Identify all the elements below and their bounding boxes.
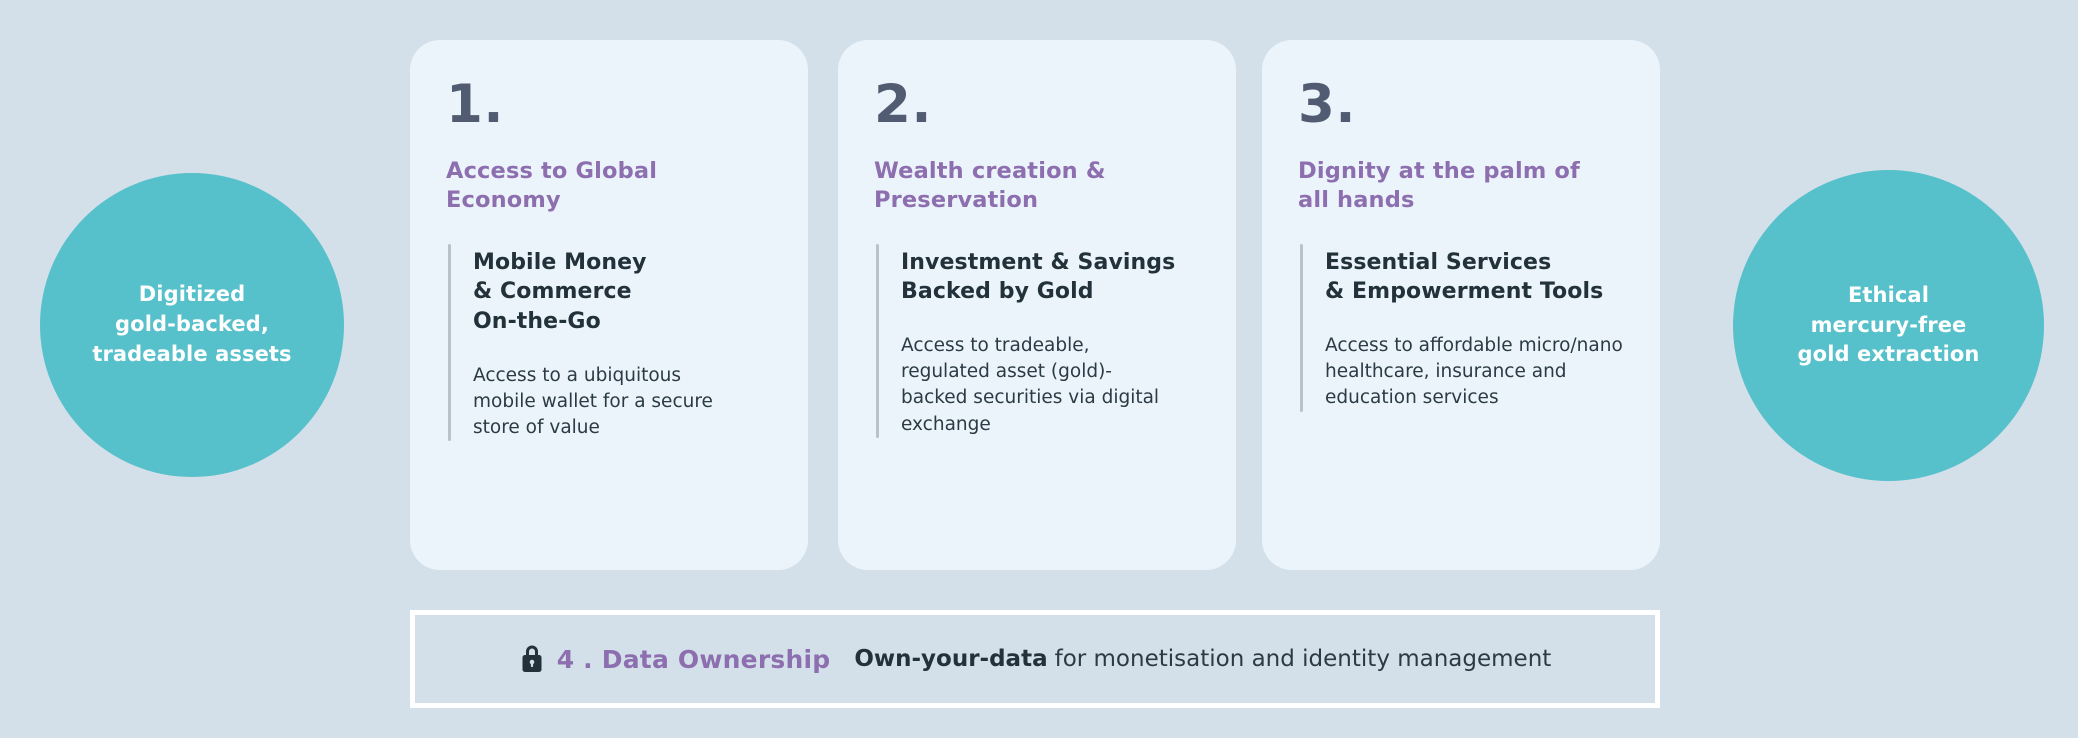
- card-subheading-3: Essential Services & Empowerment Tools: [1325, 248, 1623, 307]
- right-value-circle: Ethical mercury-free gold extraction: [1733, 170, 2044, 481]
- data-ownership-banner[interactable]: 4 . Data Ownership Own-your-data for mon…: [410, 610, 1660, 708]
- card-title-3: Dignity at the palm of all hands: [1298, 157, 1624, 216]
- pillar-card-1[interactable]: 1. Access to Global Economy Mobile Money…: [410, 40, 808, 570]
- card-title-1: Access to Global Economy: [446, 157, 772, 216]
- card-subheading-2: Investment & Savings Backed by Gold: [901, 248, 1175, 307]
- card-body-2: Investment & Savings Backed by Gold Acce…: [876, 244, 1200, 438]
- pillar-card-3[interactable]: 3. Dignity at the palm of all hands Esse…: [1262, 40, 1660, 570]
- left-circle-label: Digitized gold-backed, tradeable assets: [92, 280, 291, 369]
- banner-number-title: 4 . Data Ownership: [557, 645, 831, 674]
- card-description-3: Access to affordable micro/nano healthca…: [1325, 333, 1623, 412]
- card-body-text-3: Essential Services & Empowerment Tools A…: [1303, 244, 1623, 412]
- card-title-2: Wealth creation & Preservation: [874, 157, 1200, 216]
- card-description-2: Access to tradeable, regulated asset (go…: [901, 333, 1175, 438]
- card-number-1: 1.: [446, 78, 772, 131]
- card-description-1: Access to a ubiquitous mobile wallet for…: [473, 363, 713, 442]
- card-body-3: Essential Services & Empowerment Tools A…: [1300, 244, 1624, 412]
- infographic-canvas: Digitized gold-backed, tradeable assets …: [0, 0, 2078, 738]
- card-body-1: Mobile Money & Commerce On-the-Go Access…: [448, 244, 772, 442]
- banner-rest-text: for monetisation and identity management: [1055, 646, 1552, 672]
- card-body-text-2: Investment & Savings Backed by Gold Acce…: [879, 244, 1175, 438]
- card-number-2: 2.: [874, 78, 1200, 131]
- right-circle-label: Ethical mercury-free gold extraction: [1798, 281, 1980, 370]
- banner-content: 4 . Data Ownership Own-your-data for mon…: [519, 643, 1552, 675]
- card-subheading-1: Mobile Money & Commerce On-the-Go: [473, 248, 713, 337]
- pillar-card-2[interactable]: 2. Wealth creation & Preservation Invest…: [838, 40, 1236, 570]
- left-value-circle: Digitized gold-backed, tradeable assets: [40, 173, 344, 477]
- lock-icon: [519, 643, 545, 675]
- banner-strong-text: Own-your-data: [854, 646, 1047, 672]
- card-number-3: 3.: [1298, 78, 1624, 131]
- card-body-text-1: Mobile Money & Commerce On-the-Go Access…: [451, 244, 713, 442]
